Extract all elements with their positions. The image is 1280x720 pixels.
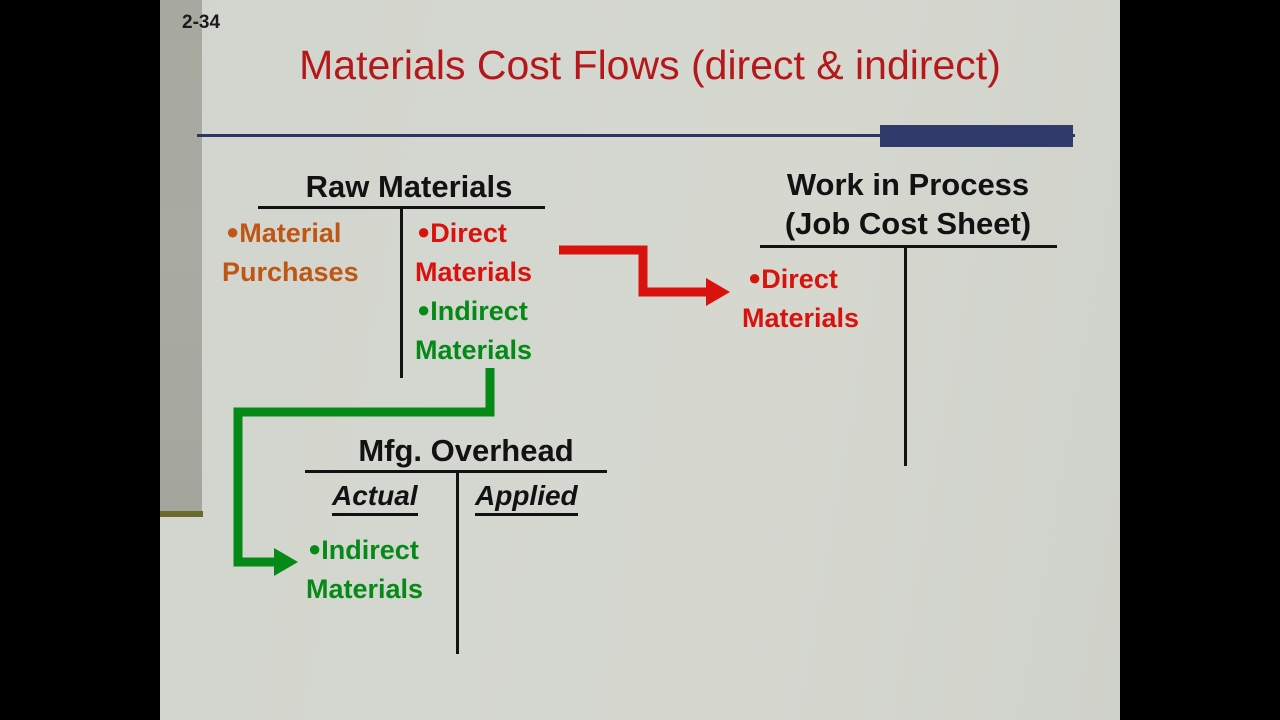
mfg-overhead-column-actual: Actual bbox=[332, 480, 418, 516]
slide-left-band bbox=[160, 0, 202, 512]
raw-materials-debit-line1: Material bbox=[239, 218, 341, 248]
work-in-process-divider bbox=[904, 247, 907, 466]
raw-materials-divider bbox=[400, 208, 403, 378]
mfg-overhead-debit-entry: ●Indirect Materials bbox=[308, 529, 423, 609]
slide-number: 2-34 bbox=[182, 12, 220, 34]
work-in-process-debit-line2: Materials bbox=[742, 299, 859, 338]
raw-materials-credit-indirect-line1: Indirect bbox=[430, 296, 528, 326]
mfg-overhead-debit-line2: Materials bbox=[306, 570, 423, 609]
direct-materials-flow-arrow bbox=[559, 250, 730, 306]
mfg-overhead-column-applied: Applied bbox=[475, 480, 578, 516]
raw-materials-credit-entry-direct: ●Direct Materials bbox=[417, 212, 532, 292]
bullet-icon: ● bbox=[417, 297, 430, 322]
mfg-overhead-divider bbox=[456, 472, 459, 654]
raw-materials-credit-indirect-line2: Materials bbox=[415, 331, 532, 370]
raw-materials-title: Raw Materials bbox=[263, 168, 555, 206]
work-in-process-title-line1: Work in Process bbox=[758, 166, 1058, 204]
work-in-process-debit-entry: ●Direct Materials bbox=[748, 258, 859, 338]
raw-materials-credit-direct-line2: Materials bbox=[415, 253, 532, 292]
raw-materials-debit-entry: ●Material Purchases bbox=[226, 212, 359, 292]
bullet-icon: ● bbox=[748, 265, 761, 290]
presentation-slide: 2-34 Materials Cost Flows (direct & indi… bbox=[160, 0, 1120, 720]
raw-materials-credit-entry-indirect: ●Indirect Materials bbox=[417, 290, 532, 370]
bullet-icon: ● bbox=[417, 219, 430, 244]
title-accent-bar bbox=[880, 125, 1073, 147]
raw-materials-debit-line2: Purchases bbox=[222, 253, 359, 292]
screenshot-stage: 2-34 Materials Cost Flows (direct & indi… bbox=[0, 0, 1280, 720]
work-in-process-debit-line1: Direct bbox=[761, 264, 838, 294]
flow-arrows bbox=[160, 0, 1120, 720]
mfg-overhead-debit-line1: Indirect bbox=[321, 535, 419, 565]
raw-materials-credit-direct-line1: Direct bbox=[430, 218, 507, 248]
bullet-icon: ● bbox=[308, 536, 321, 561]
bullet-icon: ● bbox=[226, 219, 239, 244]
work-in-process-title-line2: (Job Cost Sheet) bbox=[758, 205, 1058, 243]
work-in-process-top-rule bbox=[760, 245, 1057, 248]
slide-left-band-edge bbox=[160, 511, 203, 517]
page-title: Materials Cost Flows (direct & indirect) bbox=[200, 42, 1100, 89]
mfg-overhead-title: Mfg. Overhead bbox=[305, 432, 627, 470]
